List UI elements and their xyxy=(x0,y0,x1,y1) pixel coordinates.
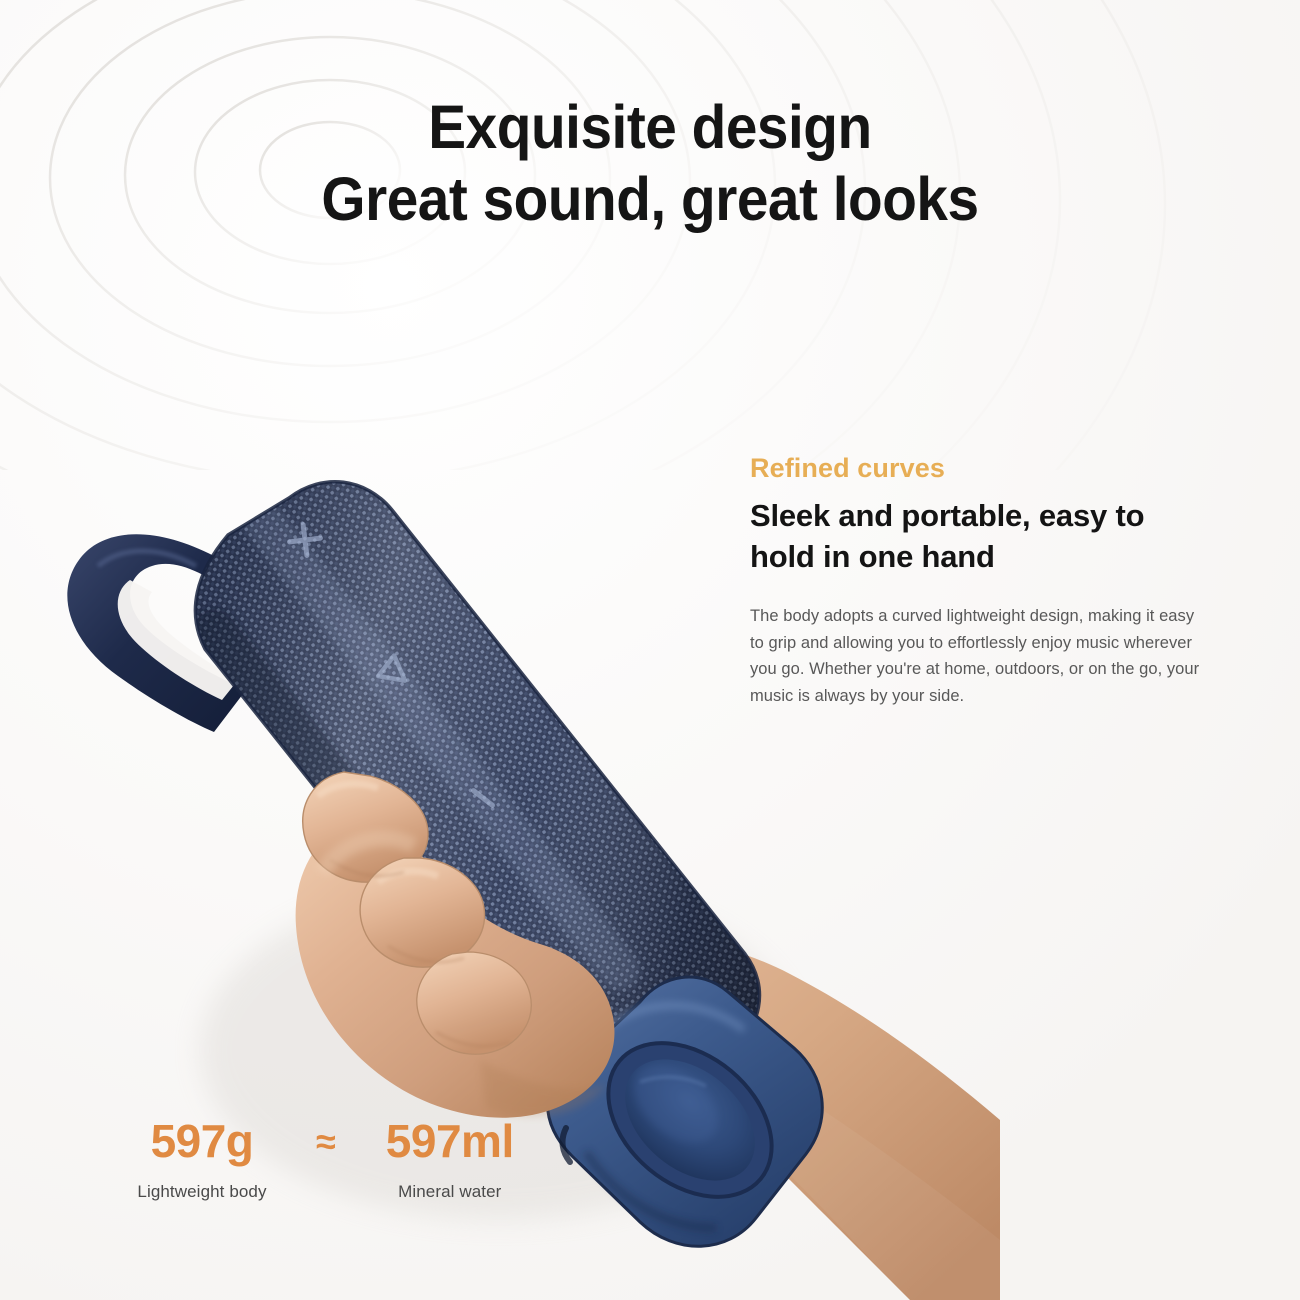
feature-body-text: The body adopts a curved lightweight des… xyxy=(750,603,1210,710)
weight-comparison-stats: 597g Lightweight body ≈ 597ml Mineral wa… xyxy=(122,1118,530,1202)
stat-value-volume: 597ml xyxy=(386,1118,514,1164)
page-headline: Exquisite design Great sound, great look… xyxy=(0,96,1300,230)
stat-label-volume: Mineral water xyxy=(398,1182,501,1202)
feature-eyebrow: Refined curves xyxy=(750,452,1220,484)
stat-lightweight-body: 597g Lightweight body xyxy=(122,1118,282,1202)
headline-line-1: Exquisite design xyxy=(46,96,1255,158)
stat-mineral-water: 597ml Mineral water xyxy=(370,1118,530,1202)
stat-label-weight: Lightweight body xyxy=(137,1182,266,1202)
product-marketing-page: Exquisite design Great sound, great look… xyxy=(0,0,1300,1300)
feature-text-block: Refined curves Sleek and portable, easy … xyxy=(750,452,1220,710)
stat-value-weight: 597g xyxy=(151,1118,254,1164)
headline-line-2: Great sound, great looks xyxy=(46,168,1255,230)
feature-title: Sleek and portable, easy to hold in one … xyxy=(750,496,1170,577)
approximately-equal-icon: ≈ xyxy=(316,1124,336,1160)
